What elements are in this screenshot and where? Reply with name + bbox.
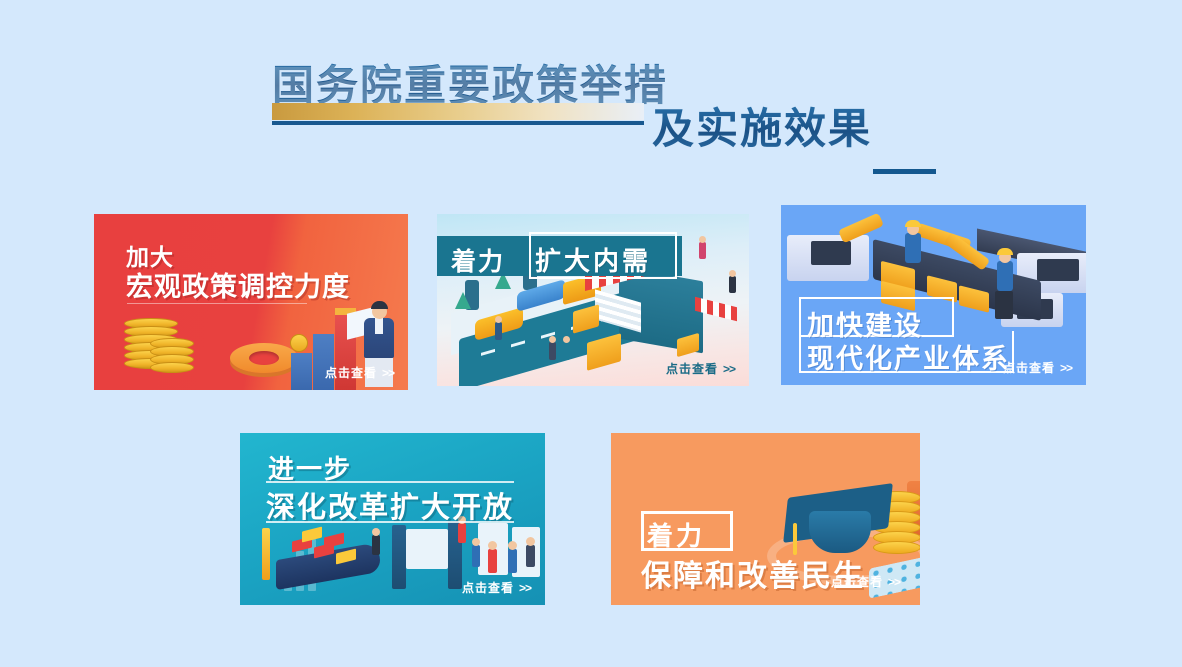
worker-1-helmet-icon [905, 220, 921, 227]
card3-title-line-2: 现代化产业体系 [807, 337, 1010, 376]
visitor-5 [508, 549, 517, 573]
visitor-4-head [488, 541, 497, 550]
worker-2-legs [995, 291, 1013, 319]
card5-title-prefix: 着力 [647, 516, 705, 553]
title-blue-rule [272, 121, 644, 125]
chevron-right-icon: >> [723, 362, 735, 376]
card-reform-opening[interactable]: 进一步 深化改革扩大开放 点击查看>> [240, 433, 545, 605]
card3-cta-label: 点击查看 [1003, 361, 1055, 375]
card5-cta-label: 点击查看 [831, 575, 883, 589]
pedestrian-5 [729, 276, 736, 293]
container-5 [324, 533, 344, 549]
pedestrian-5-head [729, 270, 736, 277]
worker-2-body [997, 261, 1013, 291]
pedestrian-2 [549, 342, 556, 360]
visitor-1 [372, 535, 380, 555]
card3-cta[interactable]: 点击查看>> [1003, 359, 1072, 376]
tree-1-icon [455, 292, 471, 309]
bar-chart-bar-1 [291, 353, 312, 390]
chevron-right-icon: >> [1060, 361, 1072, 375]
card5-cta[interactable]: 点击查看>> [831, 573, 900, 590]
person-hair [371, 301, 388, 309]
card4-cta[interactable]: 点击查看>> [462, 579, 531, 596]
worker-2-helmet-icon [997, 248, 1013, 255]
card1-divider [127, 303, 307, 304]
machine-right-screen [1037, 259, 1079, 281]
gold-bar-icon [262, 528, 270, 580]
card1-title-line-2: 宏观政策调控力度 [126, 265, 350, 304]
gold-ring-icon [230, 343, 298, 373]
card-expand-demand[interactable]: 着力 扩大内需 点击查看>> [437, 214, 749, 386]
card4-title-line-2: 深化改革扩大开放 [266, 484, 514, 526]
card1-cta-label: 点击查看 [325, 366, 377, 380]
pedestrian-3 [563, 342, 570, 360]
visitor-5-head [508, 541, 517, 550]
exhibition-panel-1 [406, 529, 448, 569]
card-peoples-livelihood[interactable]: 着力 保障和改善民生 点击查看>> [611, 433, 920, 605]
card4-divider-bottom [266, 521, 514, 523]
page-root: 国务院重要政策举措 及实施效果 加大 宏观政策调控力度 [0, 0, 1182, 667]
pedestrian-1 [495, 322, 502, 340]
visitor-3-head [472, 538, 480, 546]
page-header: 国务院重要政策举措 及实施效果 [0, 52, 1182, 152]
bar-chart-bar-2 [313, 334, 334, 390]
card2-title-prefix: 着力 [451, 242, 505, 278]
title-gold-underline [272, 103, 644, 120]
card-modern-industry[interactable]: 加快建设 现代化产业体系 点击查看>> [781, 205, 1086, 385]
machine-left-screen [811, 241, 851, 265]
visitor-6 [526, 545, 535, 567]
chevron-right-icon: >> [888, 575, 900, 589]
title-right-dash [873, 169, 936, 174]
card4-divider-top [266, 481, 514, 483]
card4-cta-label: 点击查看 [462, 581, 514, 595]
pedestrian-1-head [495, 316, 502, 323]
card5-inner: 着力 保障和改善民生 点击查看>> [617, 439, 914, 599]
visitor-2 [458, 523, 466, 543]
worker-1-body [905, 233, 921, 263]
person-shirt [375, 318, 383, 334]
chevron-right-icon: >> [519, 581, 531, 595]
card1-cta[interactable]: 点击查看>> [325, 364, 394, 381]
visitor-3 [472, 545, 480, 567]
page-title-line-2: 及实施效果 [652, 95, 872, 156]
chevron-right-icon: >> [382, 366, 394, 380]
visitor-6-head [526, 537, 535, 546]
exhibition-frame-1 [392, 525, 406, 589]
visitor-1-head [372, 528, 380, 536]
pedestrian-4 [699, 242, 706, 259]
pedestrian-4-head [699, 236, 706, 243]
card2-title-main: 扩大内需 [535, 241, 651, 278]
card2-cta-label: 点击查看 [666, 362, 718, 376]
visitor-4 [488, 549, 497, 573]
coin-stack-small-icon [150, 338, 194, 375]
card2-cta[interactable]: 点击查看>> [666, 360, 735, 377]
pedestrian-3-head [563, 336, 570, 343]
graduation-cap-bowl [809, 511, 871, 553]
single-coin-icon [290, 334, 308, 352]
card-macro-policy[interactable]: 加大 宏观政策调控力度 点击查看>> [94, 214, 408, 390]
pedestrian-2-head [549, 336, 556, 343]
